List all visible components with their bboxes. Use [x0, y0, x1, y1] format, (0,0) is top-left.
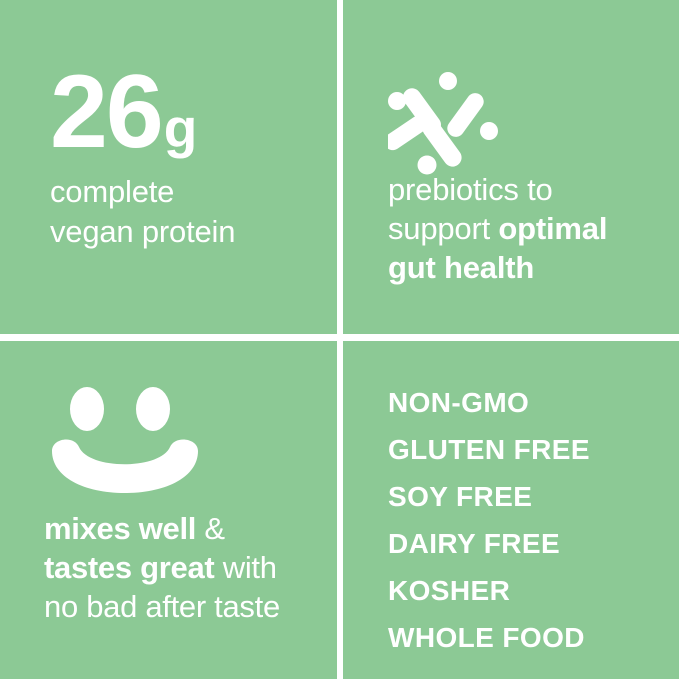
protein-amount: 26 g	[50, 60, 197, 164]
smiley-face-icon	[42, 381, 212, 496]
prebiotic-description: prebiotics to support optimal gut health	[388, 170, 663, 287]
claims-panel: NON-GMOGLUTEN FREESOY FREEDAIRY FREEKOSH…	[343, 341, 679, 679]
protein-grams-unit: g	[164, 101, 198, 156]
taste-line2-regular: with	[214, 550, 276, 585]
smiley-left-eye	[70, 387, 104, 431]
claims-list: NON-GMOGLUTEN FREESOY FREEDAIRY FREEKOSH…	[388, 389, 590, 652]
protein-description-line2: vegan protein	[50, 214, 235, 249]
bacteria-microbes-icon	[388, 68, 508, 176]
taste-line1-regular: &	[196, 511, 225, 546]
taste-line2-bold: tastes great	[44, 550, 214, 585]
prebiotic-line2-bold: optimal	[498, 211, 607, 246]
claims-list-item: KOSHER	[388, 577, 590, 605]
claims-list-item: DAIRY FREE	[388, 530, 590, 558]
prebiotic-line3-bold: gut health	[388, 250, 534, 285]
claims-list-item: NON-GMO	[388, 389, 590, 417]
protein-description: complete vegan protein	[50, 172, 320, 251]
protein-grams-value: 26	[50, 60, 162, 164]
smiley-mouth	[52, 439, 198, 493]
claims-list-item: SOY FREE	[388, 483, 590, 511]
claims-list-item: GLUTEN FREE	[388, 436, 590, 464]
claims-list-item: WHOLE FOOD	[388, 624, 590, 652]
prebiotic-line2-regular: support	[388, 211, 498, 246]
taste-description: mixes well & tastes great with no bad af…	[44, 509, 329, 626]
smiley-right-eye	[136, 387, 170, 431]
taste-line1-bold: mixes well	[44, 511, 196, 546]
taste-line3-regular: no bad after taste	[44, 589, 280, 624]
protein-description-line1: complete	[50, 174, 174, 209]
prebiotic-panel: prebiotics to support optimal gut health	[343, 0, 679, 334]
protein-panel: 26 g complete vegan protein	[0, 0, 337, 334]
prebiotic-line1: prebiotics to	[388, 172, 553, 207]
taste-panel: mixes well & tastes great with no bad af…	[0, 341, 337, 679]
benefits-infographic: 26 g complete vegan protein	[0, 0, 679, 679]
